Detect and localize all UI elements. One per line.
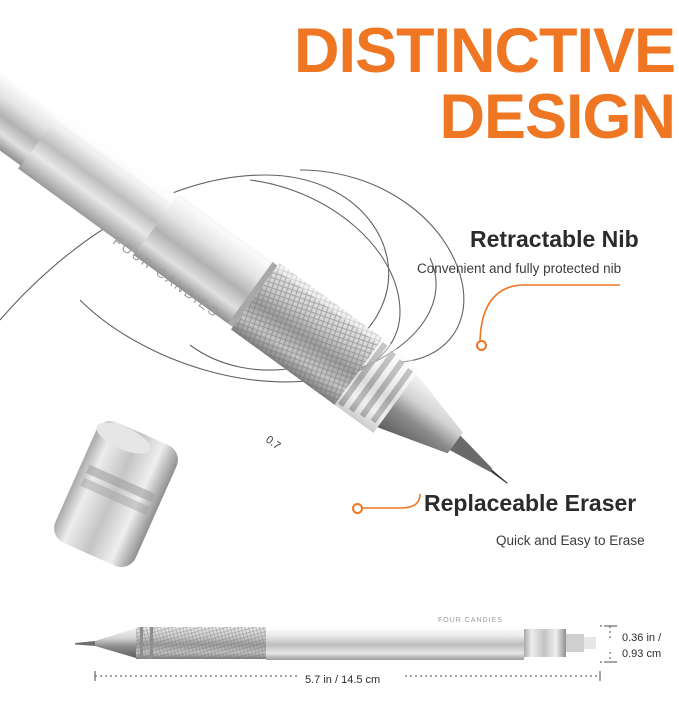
headline: DISTINCTIVE DESIGN [294,22,675,148]
dimension-diameter-cm-label: 0.93 cm [622,648,661,660]
callout-subtitle-retractable-nib: Convenient and fully protected nib [417,261,621,276]
headline-line-2: DESIGN [294,88,675,148]
dimension-length-label: 5.7 in / 14.5 cm [305,674,380,686]
poster-canvas: 0.7 FOUR CANDIES [0,0,679,708]
nib-callout-dot [476,340,487,351]
lead-size-label: 0.7 [263,434,282,453]
callout-subtitle-replaceable-eraser: Quick and Easy to Erase [496,533,645,548]
pencil-cap [49,416,183,572]
eraser-callout-dot [352,503,363,514]
callout-title-retractable-nib: Retractable Nib [470,226,639,253]
headline-line-1: DISTINCTIVE [294,22,675,82]
eraser-leader-line [362,494,420,508]
callout-title-replaceable-eraser: Replaceable Eraser [424,490,636,517]
pencil-side-view: FOUR CANDIES [75,617,596,660]
brand-engraving-small: FOUR CANDIES [438,617,503,624]
nib-leader-line [480,285,620,345]
dimension-diameter-inches-label: 0.36 in / [622,632,661,644]
